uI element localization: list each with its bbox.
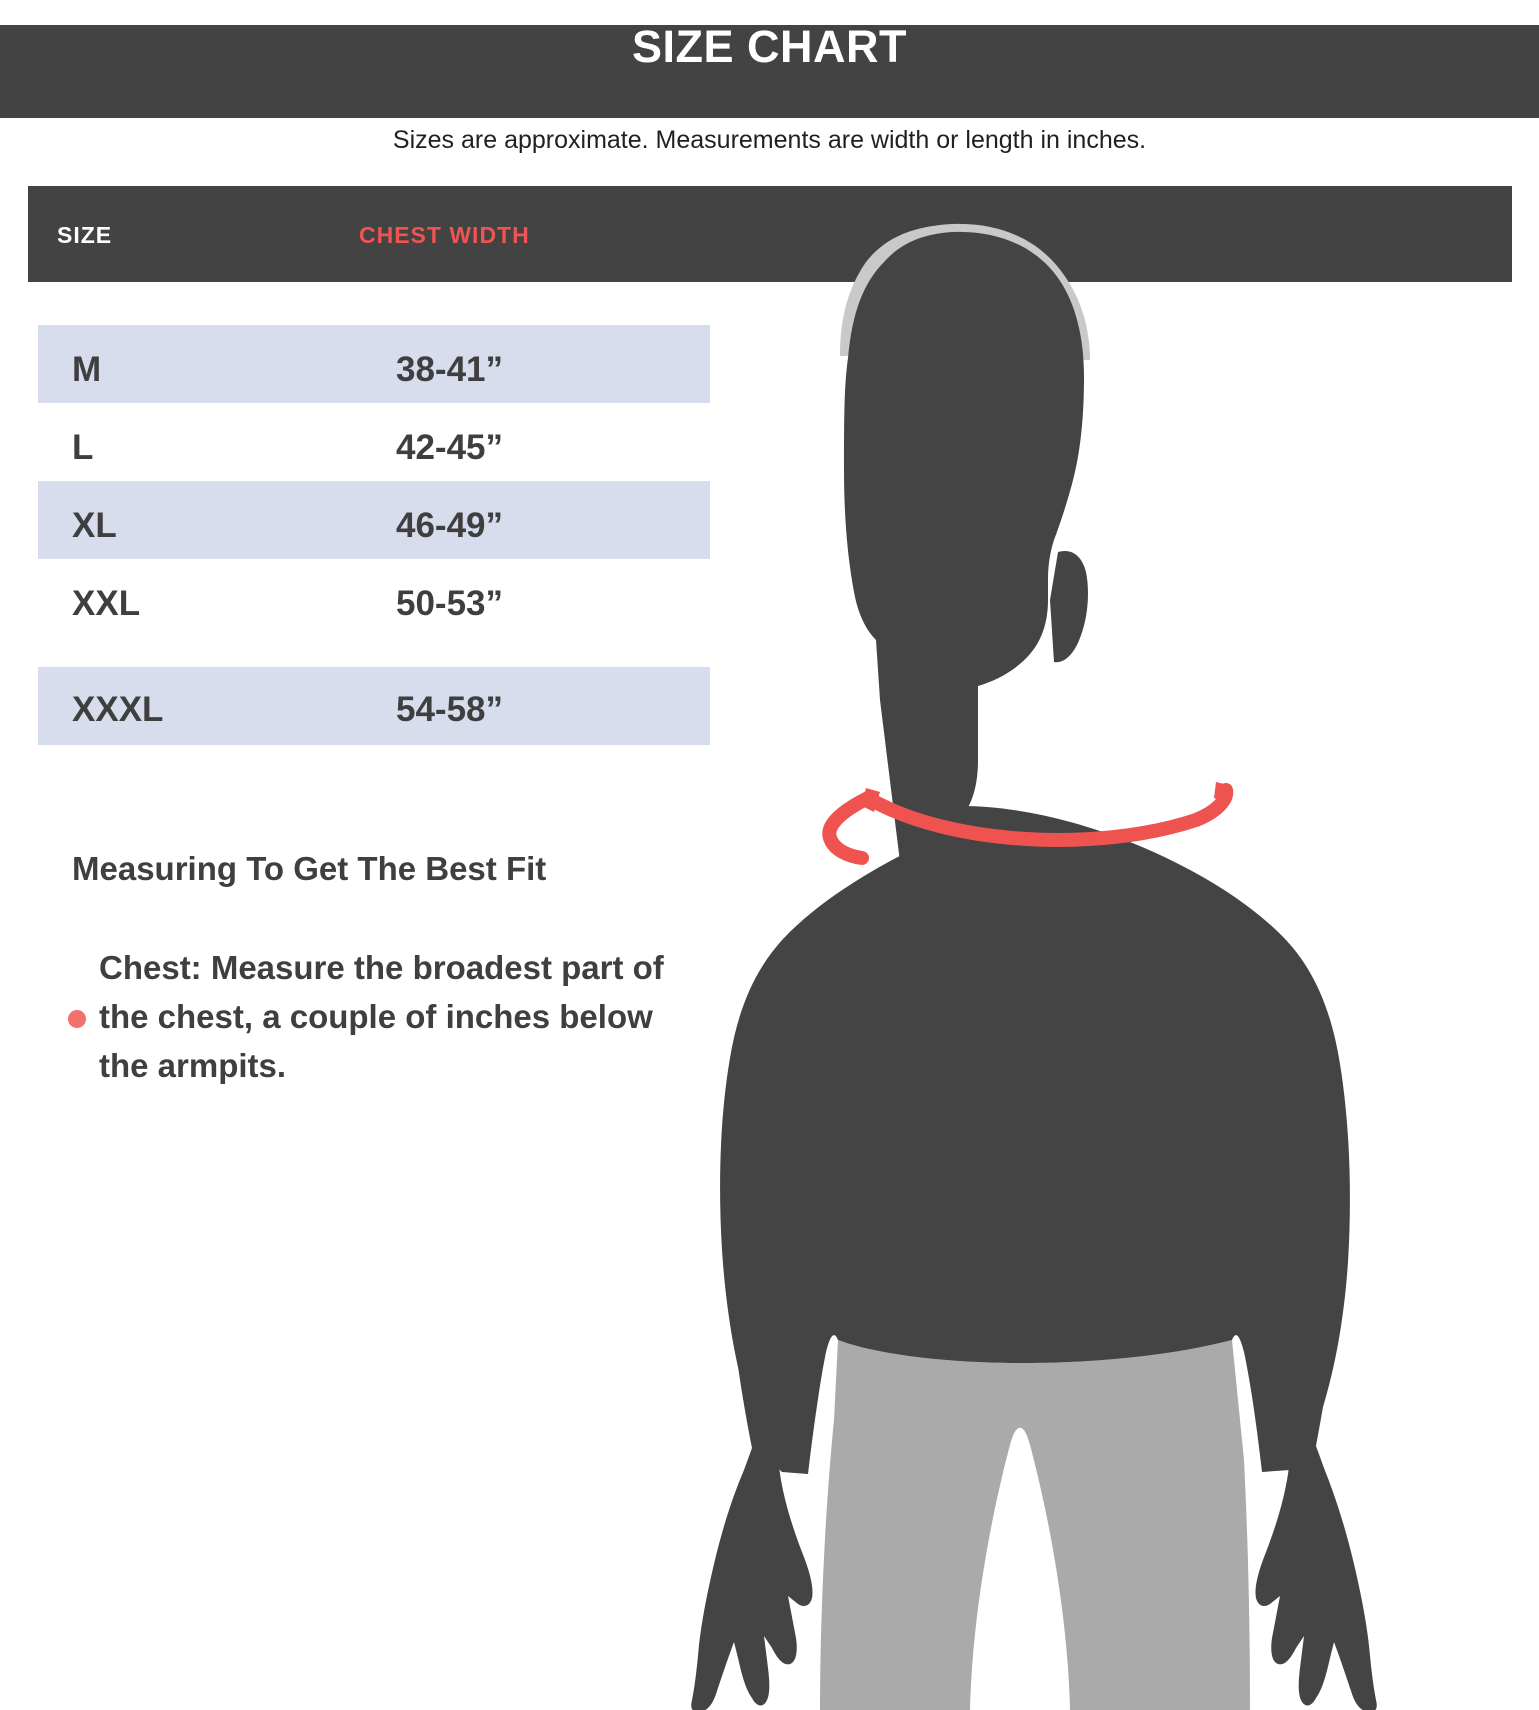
pants-shape [820,1340,1250,1710]
notes-heading: Measuring To Get The Best Fit [72,850,546,888]
cell-size: L [72,428,93,468]
torso-shape [691,224,1377,1710]
table-header-band [28,186,1512,282]
notes-bullet-text: Chest: Measure the broadest part of the … [99,943,699,1090]
cell-chest-width: 38-41” [396,350,503,390]
cell-chest-width: 42-45” [396,428,503,468]
cell-chest-width: 46-49” [396,506,503,546]
cell-size: M [72,350,101,390]
column-header-chest-width: CHEST WIDTH [359,222,530,249]
cell-size: XL [72,506,117,546]
cell-size: XXXL [72,690,163,730]
cell-chest-width: 50-53” [396,584,503,624]
cell-size: XXL [72,584,140,624]
table-row [38,403,710,481]
column-header-size: SIZE [57,222,112,249]
chest-measuring-tape [829,782,1232,858]
table-row [38,325,710,403]
table-row [38,481,710,559]
size-chart-page: SIZE CHART Sizes are approximate. Measur… [0,0,1539,1710]
page-title: SIZE CHART [0,0,1539,93]
cell-chest-width: 54-58” [396,690,503,730]
bullet-dot-icon [68,1010,86,1028]
subtitle-text: Sizes are approximate. Measurements are … [0,118,1539,162]
